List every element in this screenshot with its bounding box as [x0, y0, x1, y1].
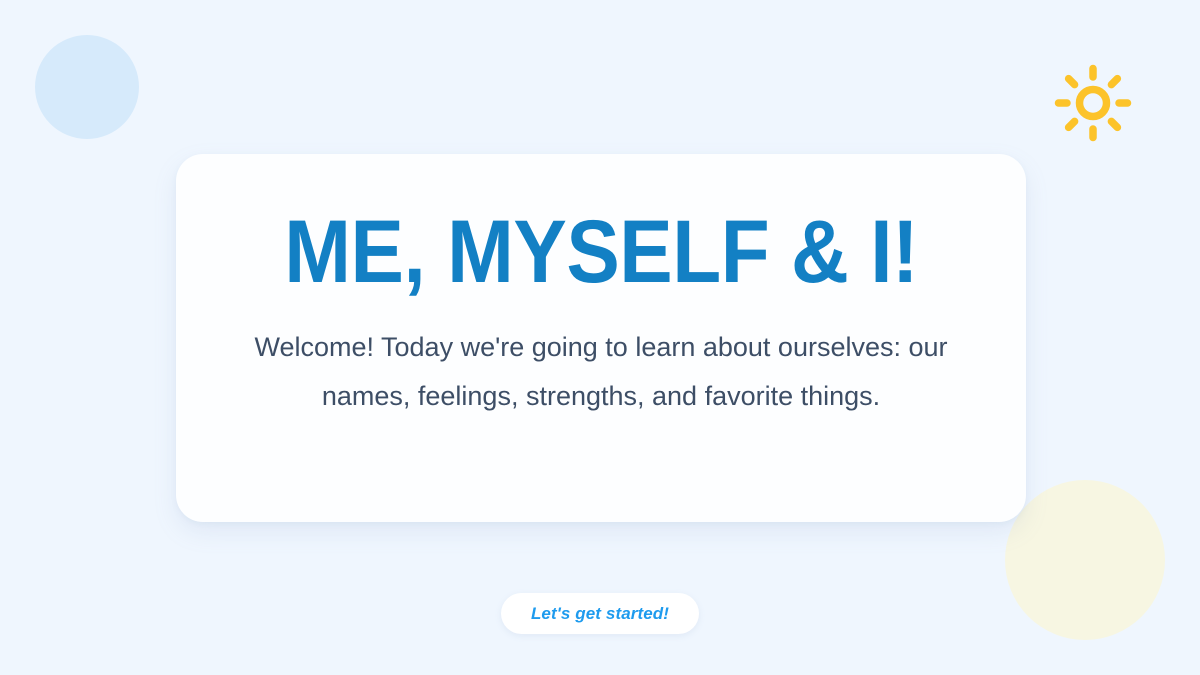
slide-canvas: ME, MYSELF & I! Welcome! Today we're goi…: [0, 0, 1200, 675]
intro-paragraph: Welcome! Today we're going to learn abou…: [238, 323, 964, 421]
content-card: ME, MYSELF & I! Welcome! Today we're goi…: [176, 154, 1026, 522]
page-title: ME, MYSELF & I!: [284, 206, 918, 297]
get-started-button[interactable]: Let's get started!: [501, 593, 699, 634]
sun-icon-glyph: [1052, 62, 1134, 144]
get-started-label: Let's get started!: [531, 604, 669, 624]
sun-icon: [1052, 62, 1134, 144]
cream-circle-decoration: [1005, 480, 1165, 640]
blue-circle-decoration: [35, 35, 139, 139]
